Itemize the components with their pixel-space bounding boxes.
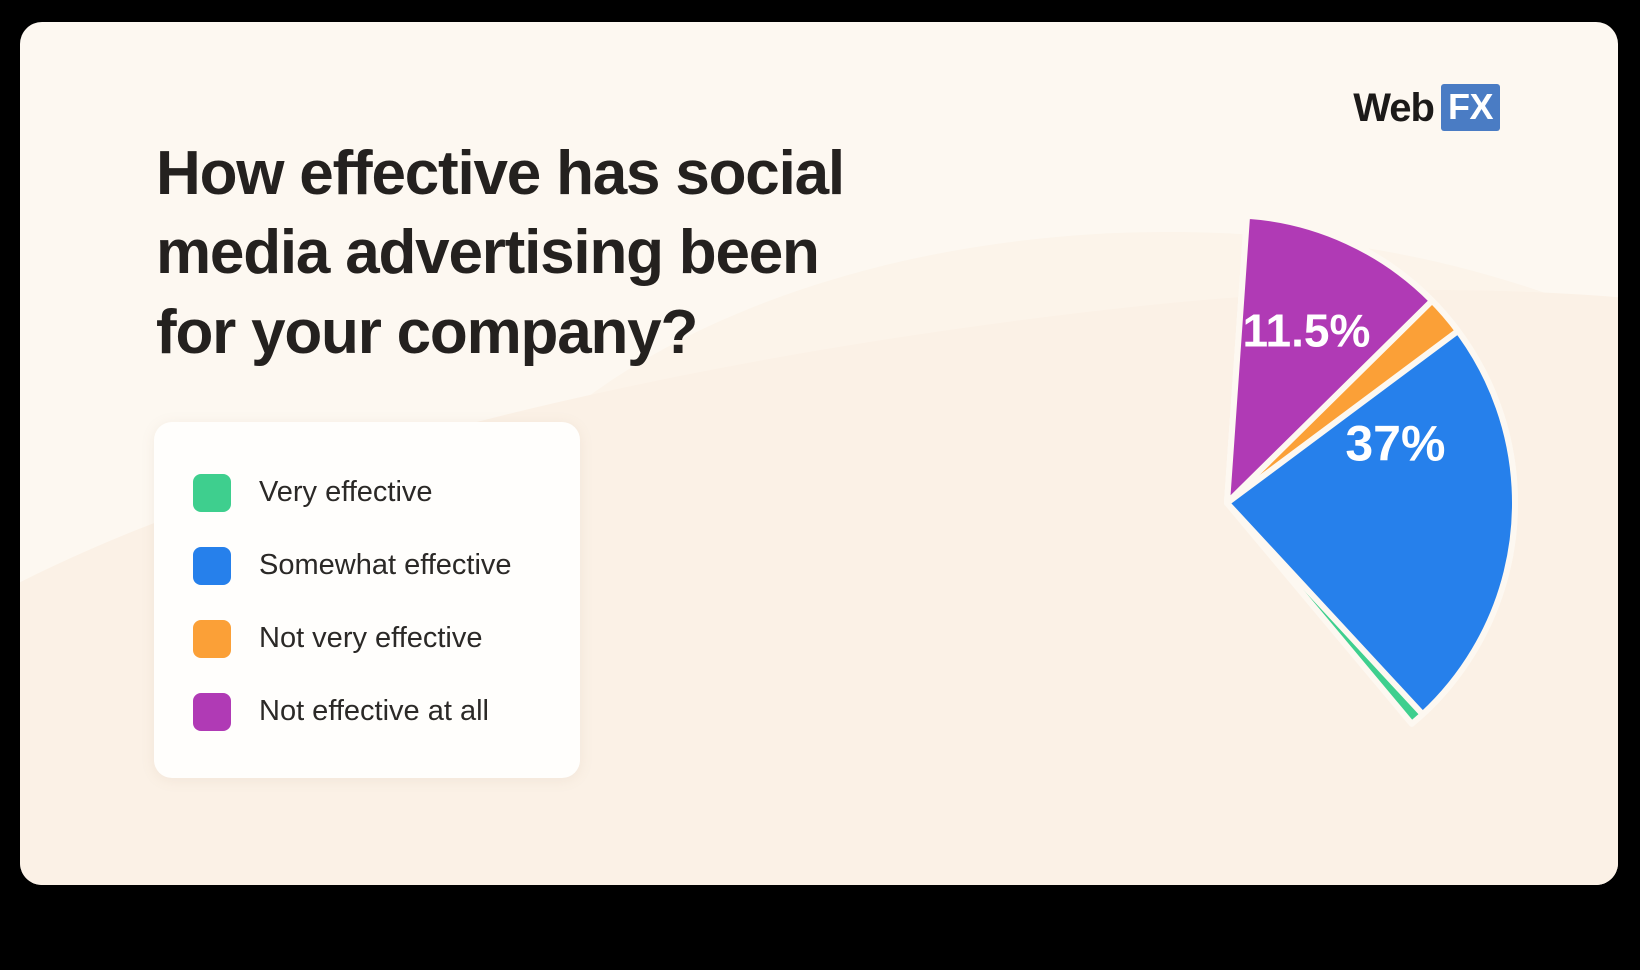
infographic-card: Web FX How effective has social media ad… — [20, 22, 1618, 885]
pie-chart-svg: 37.8%37%13.7%11.5% — [939, 215, 1515, 791]
legend-swatch-icon — [193, 693, 231, 731]
pie-slice-value-label: 11.5% — [1242, 304, 1370, 356]
pie-chart: 37.8%37%13.7%11.5% — [939, 215, 1515, 791]
pie-slice-value-label: 37% — [1345, 416, 1445, 472]
legend-item-somewhat-effective[interactable]: Somewhat effective — [154, 529, 580, 602]
legend-item-not-very-effective[interactable]: Not very effective — [154, 602, 580, 675]
legend-item-label: Not very effective — [259, 624, 483, 653]
title-line-3: for your company? — [156, 293, 916, 372]
chart-legend: Very effective Somewhat effective Not ve… — [154, 422, 580, 778]
webfx-logo[interactable]: Web FX — [1353, 84, 1500, 131]
legend-item-not-effective-at-all[interactable]: Not effective at all — [154, 675, 580, 748]
title-line-2: media advertising been — [156, 213, 916, 292]
logo-badge: FX — [1441, 84, 1500, 131]
logo-wordmark: Web — [1353, 88, 1434, 128]
legend-swatch-icon — [193, 474, 231, 512]
screenshot-stage: Web FX How effective has social media ad… — [0, 0, 1640, 970]
legend-item-label: Somewhat effective — [259, 551, 512, 580]
title-line-1: How effective has social — [156, 134, 916, 213]
legend-item-label: Very effective — [259, 478, 433, 507]
legend-swatch-icon — [193, 547, 231, 585]
page-title: How effective has social media advertisi… — [156, 134, 916, 372]
legend-item-label: Not effective at all — [259, 697, 489, 726]
legend-item-very-effective[interactable]: Very effective — [154, 456, 580, 529]
legend-swatch-icon — [193, 620, 231, 658]
